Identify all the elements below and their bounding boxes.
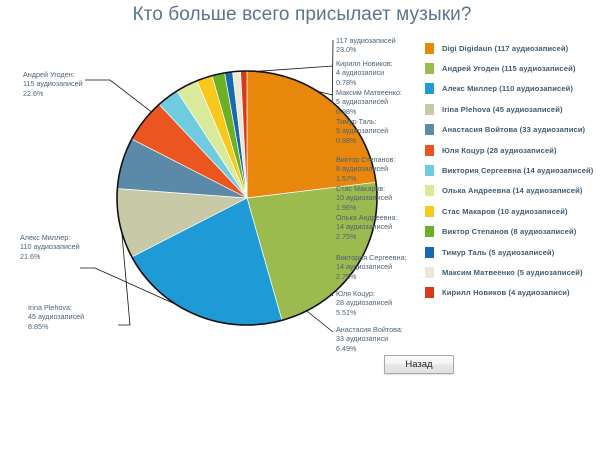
legend-color-swatch xyxy=(425,83,434,94)
callout-count: 14 аудиозаписей xyxy=(336,262,407,271)
callout-viktoriya-sergeevna: Виктория Сергеевна: 14 аудиозаписей 2.75… xyxy=(336,253,407,281)
callout-count: 28 аудиозаписей xyxy=(336,298,392,307)
callout-count: 8 аудиозаписей xyxy=(336,164,395,173)
legend-color-swatch xyxy=(425,287,434,298)
callout-count: 45 аудиозаписей xyxy=(28,312,84,321)
callout-leader-line xyxy=(80,268,196,313)
legend-item[interactable]: Алекс Миллер (110 аудиозаписей) xyxy=(425,79,603,99)
callout-leader-line xyxy=(229,74,333,125)
callout-andrey-ugoden: Андрей Угоден: 115 аудиозаписей 22.6% xyxy=(23,70,83,98)
pie-slice[interactable] xyxy=(117,189,247,257)
legend-item-label: Виктор Степанов (8 аудиозаписей) xyxy=(442,227,576,236)
pie-slice[interactable] xyxy=(117,139,247,198)
pie-slice[interactable] xyxy=(225,72,247,198)
callout-anastasia-voytova: Анастасия Войтова: 33 аудиозаписи 6.49% xyxy=(336,325,403,353)
callout-count: 117 аудиозаписей xyxy=(336,36,396,45)
callout-percent: 2.75% xyxy=(336,232,397,241)
callout-name: Irina Plehova: xyxy=(28,303,84,312)
callout-name: Тимур Таль: xyxy=(336,117,388,126)
legend-item[interactable]: Кирилл Новиков (4 аудиозаписи) xyxy=(425,283,603,303)
legend-item[interactable]: Виктория Сергеевна (14 аудиозаписей) xyxy=(425,160,603,180)
pie-slice[interactable] xyxy=(241,71,247,198)
legend-color-swatch xyxy=(425,247,434,258)
legend-item-label: Олька Андреевна (14 аудиозаписей) xyxy=(442,186,582,195)
callout-count: 5 аудиозаписей xyxy=(336,126,388,135)
callout-percent: 6.49% xyxy=(336,344,403,353)
legend-item[interactable]: Виктор Степанов (8 аудиозаписей) xyxy=(425,222,603,242)
callout-count: 115 аудиозаписей xyxy=(23,79,83,88)
legend-color-swatch xyxy=(425,185,434,196)
pie-slice[interactable] xyxy=(132,198,282,325)
callout-name: Анастасия Войтова: xyxy=(336,325,403,334)
callout-leader-line xyxy=(237,73,333,95)
pie-leader-lines xyxy=(80,40,354,332)
callout-percent: 0.98% xyxy=(336,136,388,145)
callout-percent: 8.85% xyxy=(28,322,84,331)
legend-color-swatch xyxy=(425,267,434,278)
callout-name: Максим Матвеенко: xyxy=(336,88,402,97)
legend-color-swatch xyxy=(425,43,434,54)
back-button[interactable]: Назад xyxy=(384,355,454,374)
callout-percent: 23.0% xyxy=(336,45,396,54)
callout-irina-plehova: Irina Plehova: 45 аудиозаписей 8.85% xyxy=(28,303,84,331)
callout-percent: 1.57% xyxy=(336,174,395,183)
pie-slice[interactable] xyxy=(159,91,247,198)
callout-stas-makarov: Стас Макаров: 10 аудиозаписей 1.96% xyxy=(336,184,392,212)
legend-color-swatch xyxy=(425,206,434,217)
pie-slice[interactable] xyxy=(197,76,247,198)
callout-percent: 22.6% xyxy=(23,89,83,98)
legend-item-label: Максим Матвеенко (5 аудиозаписей) xyxy=(442,268,583,277)
callout-leader-line xyxy=(332,40,333,104)
legend-item[interactable]: Максим Матвеенко (5 аудиозаписей) xyxy=(425,262,603,282)
callout-name: Олька Андреевна: xyxy=(336,213,397,222)
legend-color-swatch xyxy=(425,104,434,115)
legend-color-swatch xyxy=(425,165,434,176)
callout-percent: 2.75% xyxy=(336,272,407,281)
callout-percent: 0.78% xyxy=(336,78,393,87)
pie-slice[interactable] xyxy=(132,104,247,198)
callout-leader-line xyxy=(118,224,130,326)
legend-item-label: Тимур Таль (5 аудиозаписей) xyxy=(442,248,554,257)
callout-digi-digidaun: 117 аудиозаписей 23.0% xyxy=(336,36,396,55)
pie-slice[interactable] xyxy=(177,81,247,198)
page-title: Кто больше всего присылает музыки? xyxy=(0,4,604,26)
callout-leader-line xyxy=(123,164,333,333)
legend-color-swatch xyxy=(425,124,434,135)
legend-color-swatch xyxy=(425,226,434,237)
callout-timur-tal: Тимур Таль: 5 аудиозаписей 0.98% xyxy=(336,117,388,145)
pie-slice[interactable] xyxy=(212,73,247,198)
legend-item-label: Digi Digidaun (117 аудиозаписей) xyxy=(442,44,568,53)
legend-item[interactable]: Анастасия Войтова (33 аудиозаписи) xyxy=(425,120,603,140)
legend-item-label: Кирилл Новиков (4 аудиозаписи) xyxy=(442,288,570,297)
callout-percent: 5.51% xyxy=(336,308,392,317)
callout-percent: 0.98% xyxy=(336,107,402,116)
callout-count: 14 аудиозаписей xyxy=(336,222,397,231)
legend-item-label: Андрей Угоден (115 аудиозаписей) xyxy=(442,64,575,73)
callout-viktor-stepanov: Виктор Степанов: 8 аудиозаписей 1.57% xyxy=(336,155,395,183)
callout-aleks-miller: Алекс Миллер: 110 аудиозаписей 21.6% xyxy=(20,233,80,261)
callout-yulya-kotsur: Юля Коцур: 28 аудиозаписей 5.51% xyxy=(336,289,392,317)
callout-count: 10 аудиозаписей xyxy=(336,193,392,202)
callout-leader-line xyxy=(145,121,333,296)
callout-name: Стас Макаров: xyxy=(336,184,392,193)
callout-name: Кирилл Новиков: xyxy=(336,59,393,68)
callout-percent: 1.96% xyxy=(336,203,392,212)
callout-leader-line xyxy=(85,80,354,268)
callout-name: Андрей Угоден: xyxy=(23,70,83,79)
callout-name: Виктория Сергеевна: xyxy=(336,253,407,262)
callout-name: Алекс Миллер: xyxy=(20,233,80,242)
callout-leader-line xyxy=(219,75,333,162)
legend-item[interactable]: Стас Макаров (10 аудиозаписей) xyxy=(425,201,603,221)
legend-item[interactable]: Олька Андреевна (14 аудиозаписей) xyxy=(425,181,603,201)
legend-item-label: Алекс Миллер (110 аудиозаписей) xyxy=(442,84,573,93)
legend-item[interactable]: Юля Коцур (28 аудиозаписей) xyxy=(425,140,603,160)
callout-leader-line xyxy=(169,98,334,260)
callout-olka-andreevna: Олька Андреевна: 14 аудиозаписей 2.75% xyxy=(336,213,397,241)
callout-leader-line xyxy=(205,79,333,191)
chart-legend: Digi Digidaun (117 аудиозаписей)Андрей У… xyxy=(425,38,603,303)
callout-count: 5 аудиозаписей xyxy=(336,97,402,106)
legend-item-label: Виктория Сергеевна (14 аудиозаписей) xyxy=(442,166,593,175)
pie-slice[interactable] xyxy=(233,71,247,198)
callout-name: Юля Коцур: xyxy=(336,289,392,298)
callout-kirill-novikov: Кирилл Новиков: 4 аудиозаписи 0.78% xyxy=(336,59,393,87)
callout-leader-line xyxy=(187,87,333,220)
callout-count: 110 аудиозаписей xyxy=(20,242,80,251)
legend-item-label: Irina Plehova (45 аудиозаписей) xyxy=(442,105,563,114)
legend-item[interactable]: Digi Digidaun (117 аудиозаписей) xyxy=(425,38,603,58)
callout-count: 33 аудиозаписи xyxy=(336,334,403,343)
legend-color-swatch xyxy=(425,63,434,74)
legend-item[interactable]: Андрей Угоден (115 аудиозаписей) xyxy=(425,58,603,78)
callout-count: 4 аудиозаписи xyxy=(336,68,393,77)
callout-percent: 21.6% xyxy=(20,252,80,261)
callout-maksim-matveenko: Максим Матвеенко: 5 аудиозаписей 0.98% xyxy=(336,88,402,116)
callout-name: Виктор Степанов: xyxy=(336,155,395,164)
callout-leader-line xyxy=(244,66,333,72)
legend-item-label: Юля Коцур (28 аудиозаписей) xyxy=(442,146,557,155)
legend-item-label: Стас Макаров (10 аудиозаписей) xyxy=(442,207,568,216)
legend-item[interactable]: Тимур Таль (5 аудиозаписей) xyxy=(425,242,603,262)
legend-item[interactable]: Irina Plehova (45 аудиозаписей) xyxy=(425,99,603,119)
legend-item-label: Анастасия Войтова (33 аудиозаписи) xyxy=(442,125,585,134)
legend-color-swatch xyxy=(425,145,434,156)
